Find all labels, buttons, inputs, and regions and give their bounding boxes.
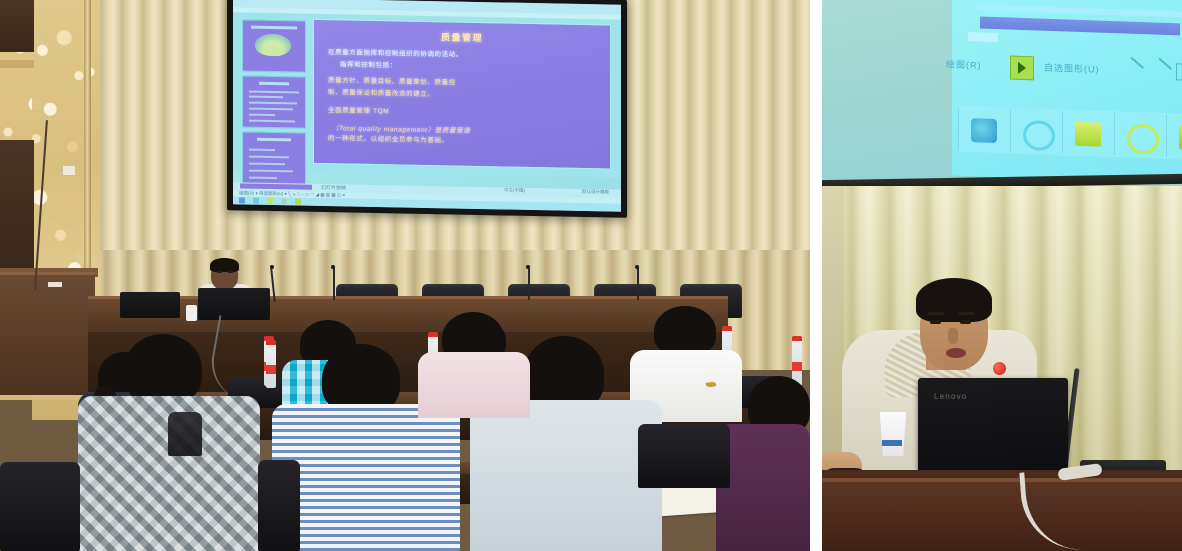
audience-chair [258, 460, 300, 551]
table-microphone-head [270, 265, 274, 269]
ppt-titlebar-closeup [974, 4, 1182, 18]
ppt-toolbar-buttons[interactable] [968, 32, 998, 42]
slide-thumbnail-2[interactable] [242, 75, 306, 128]
taskbar-tile[interactable] [1114, 113, 1167, 157]
taskbar-tile[interactable] [1062, 111, 1115, 155]
line-icon[interactable] [1120, 57, 1144, 81]
podium-paper [48, 282, 62, 287]
thumbnail-title-bar [259, 82, 289, 86]
speaker-mouth [946, 348, 966, 358]
folder-icon[interactable] [267, 198, 273, 204]
ie-icon[interactable] [1023, 120, 1055, 151]
ppt-selected-bar [980, 16, 1180, 35]
head-table-laptop-center [198, 288, 270, 320]
laptop-brand-label: Lenovo [934, 392, 967, 401]
ppt-status-left-label: 幻灯片放映 [321, 184, 346, 191]
arrow-icon[interactable] [1148, 58, 1172, 82]
wall-dark-mid [0, 140, 34, 272]
thumbnail-title-bar [251, 26, 297, 30]
panel-divider [810, 0, 822, 551]
audience-body [272, 404, 460, 551]
slide-thumbnail-1[interactable] [242, 19, 306, 72]
marble-joint-line [0, 60, 34, 68]
bottle-cap [428, 332, 438, 337]
projection-closeup-surface: 绘图(R) 自选图形(U) [952, 0, 1182, 185]
start-icon[interactable] [239, 198, 245, 204]
bottle-label [792, 362, 802, 371]
presenter-cup [186, 305, 197, 321]
ppt-status-progress [240, 183, 312, 189]
ppt-status-center-label: 中文(中国) [504, 187, 525, 193]
projection-screen: 质量管理 在质量方面指挥和控制组织的协调的活动。 指挥和控制包括： 质量方针、质… [227, 0, 627, 218]
slide-thumbnail-3[interactable] [242, 131, 306, 186]
podium [822, 478, 1182, 551]
thumbnail-text-line [249, 170, 293, 173]
table-microphone-head [635, 265, 639, 269]
play-triangle-icon [1018, 62, 1026, 74]
screenshot-root: 质量管理 在质量方面指挥和控制组织的协调的活动。 指挥和控制包括： 质量方针、质… [0, 0, 1182, 551]
audience-body [470, 400, 662, 551]
thumbnail-text-line [249, 120, 295, 123]
thumbnail-text-line [249, 102, 297, 105]
wall-dark-upper [0, 0, 34, 52]
slide-title: 质量管理 [314, 28, 610, 47]
audience-body [418, 352, 530, 418]
ppt-slide-thumbnail-pane[interactable] [240, 15, 306, 165]
thumbnail-text-line [249, 163, 285, 166]
table-microphone-head [331, 265, 335, 269]
thumbnail-text-line [249, 177, 277, 180]
bottle-cap [266, 340, 276, 345]
microphone-indicator-light [993, 362, 1006, 375]
speaker-hair [916, 278, 992, 322]
panel-right-closeups: 绘图(R) 自选图形(U) [822, 0, 1182, 551]
thumbnail-text-line [249, 96, 283, 99]
media-player-icon[interactable] [281, 199, 287, 205]
speaker-eyebrow [958, 312, 974, 315]
speaker-eye [960, 320, 971, 324]
media-player-icon[interactable] [1127, 124, 1159, 155]
ppt-status-right-label: 默认设计模板 [582, 189, 609, 196]
table-microphone [333, 268, 335, 300]
thumbnail-image [255, 34, 291, 57]
table-microphone [528, 268, 530, 300]
head-table-laptop-left [120, 292, 180, 318]
side-wall [822, 186, 844, 486]
audience-chair [638, 424, 730, 488]
audience-chair [168, 412, 202, 456]
autoshapes-menu-label[interactable]: 自选图形(U) [1044, 61, 1100, 76]
speaker-eyebrow [928, 312, 944, 315]
wall-socket [62, 165, 76, 176]
water-bottle [266, 344, 276, 388]
projection-screen-surface: 质量管理 在质量方面指挥和控制组织的协调的活动。 指挥和控制包括： 质量方针、质… [233, 0, 621, 212]
audience-head [124, 334, 202, 404]
folder-icon[interactable] [1075, 122, 1101, 147]
ppt-icon[interactable] [295, 199, 301, 205]
speaker-eye [930, 320, 941, 324]
thumbnail-title-bar [257, 138, 291, 142]
start-icon[interactable] [971, 118, 997, 143]
thumbnail-text-line [249, 114, 275, 116]
thumbnail-text-line [249, 91, 299, 94]
presenter-eye [217, 271, 222, 273]
autoshape-green-button[interactable] [1010, 55, 1034, 80]
thumbnail-text-line [249, 149, 275, 151]
draw-menu-label[interactable]: 绘图(R) [946, 57, 982, 71]
taskbar-tile[interactable] [958, 108, 1011, 152]
table-microphone [637, 268, 639, 300]
paper-cup-label [882, 440, 902, 446]
presenter-hair [210, 258, 239, 272]
thumbnail-text-line [249, 108, 293, 111]
ie-icon[interactable] [253, 198, 259, 204]
audience-head [654, 306, 716, 356]
slide-body-line-5: 全面质量管理 TQM [328, 104, 602, 119]
thumbnail-text-line [249, 156, 289, 159]
audience-chair [0, 462, 80, 551]
bottle-cap [792, 336, 802, 341]
screen-closeup: 绘图(R) 自选图形(U) [822, 0, 1182, 183]
rectangle-icon[interactable] [1176, 63, 1182, 81]
ppt-active-slide[interactable]: 质量管理 在质量方面指挥和控制组织的协调的活动。 指挥和控制包括： 质量方针、质… [313, 19, 611, 170]
bottle-cap [722, 326, 732, 331]
taskbar-tile[interactable] [1166, 115, 1182, 159]
paper-cup [878, 412, 908, 456]
audience-body [716, 424, 810, 551]
presenter-eye [228, 271, 233, 273]
speaker-nose [948, 328, 958, 344]
table-microphone-head [526, 265, 530, 269]
bottle-label [266, 365, 276, 374]
panel-left-wide-shot: 质量管理 在质量方面指挥和控制组织的协调的活动。 指挥和控制包括： 质量方针、质… [0, 0, 810, 551]
taskbar-tile[interactable] [1010, 109, 1063, 153]
side-podium [0, 272, 95, 395]
